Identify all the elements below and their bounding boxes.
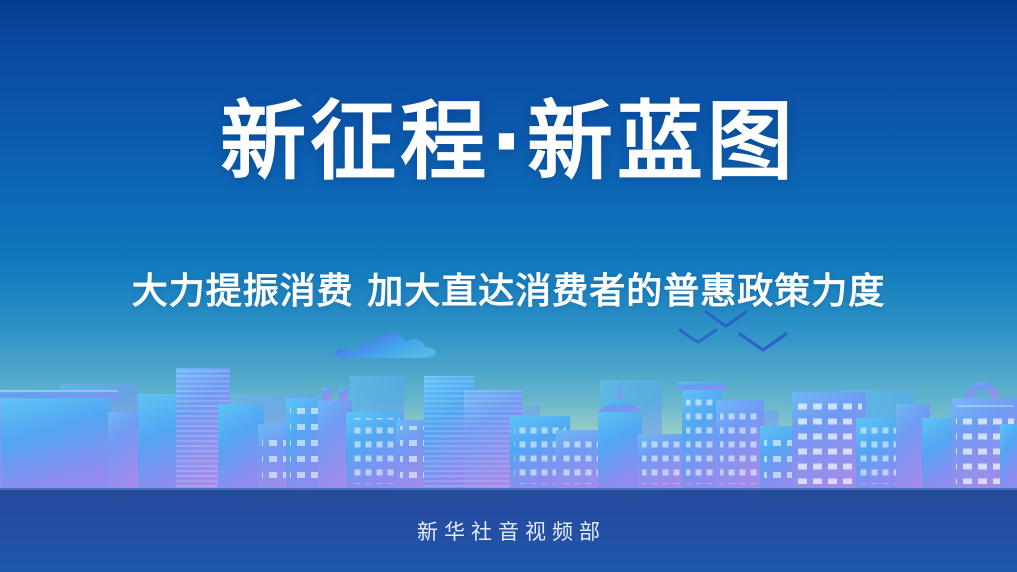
page-title: 新征程·新蓝图 xyxy=(0,96,1017,189)
page-subtitle: 大力提振消费 加大直达消费者的普惠政策力度 xyxy=(0,262,1017,314)
poster-root: 新征程·新蓝图 大力提振消费 加大直达消费者的普惠政策力度 新华社音视频部 xyxy=(0,0,1017,572)
credit-line: 新华社音视频部 xyxy=(0,516,1017,546)
skyline-main-row xyxy=(0,368,1017,488)
